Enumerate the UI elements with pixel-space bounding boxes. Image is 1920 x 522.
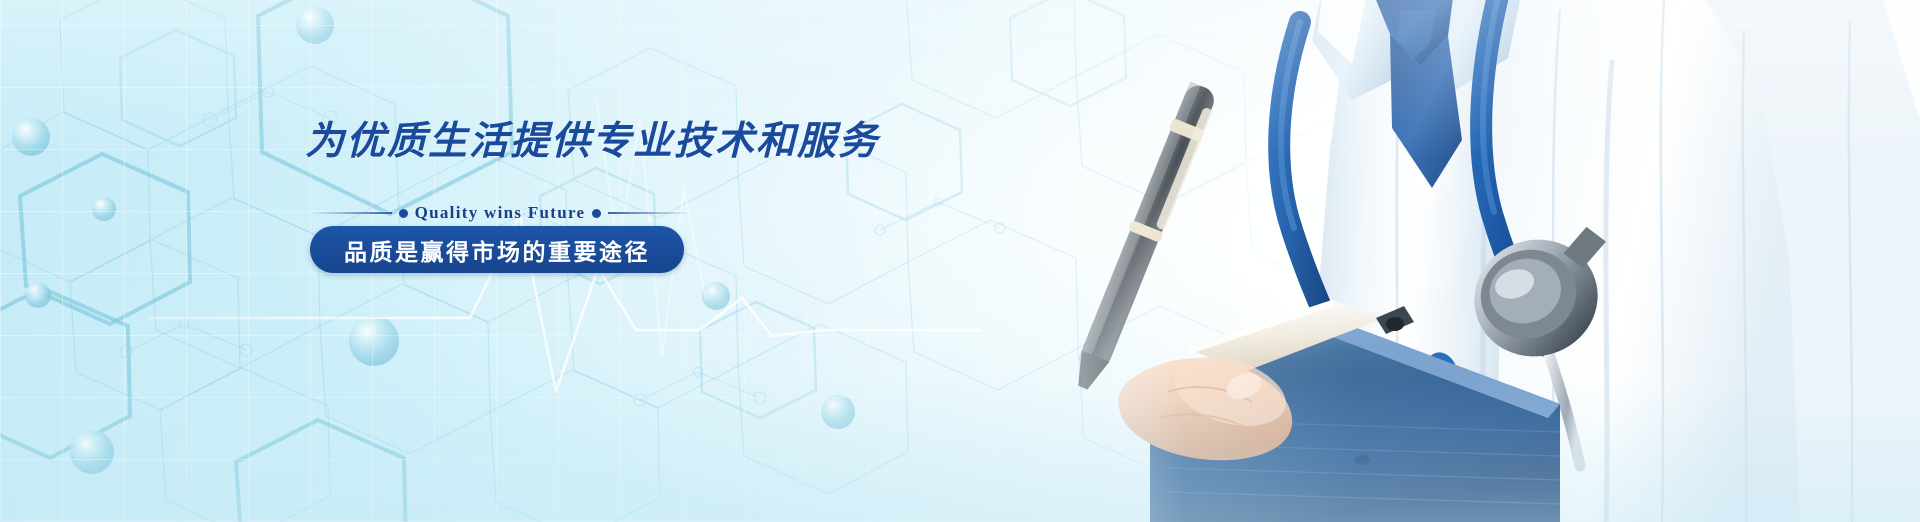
divider-line-left bbox=[310, 212, 392, 214]
medical-hero-banner: 为优质生活提供专业技术和服务 Quality wins Future 品质是赢得… bbox=[0, 0, 1920, 522]
slogan-button[interactable]: 品质是赢得市场的重要途径 bbox=[310, 226, 684, 273]
divider-dot-right bbox=[592, 209, 601, 218]
page-title: 为优质生活提供专业技术和服务 bbox=[305, 122, 879, 161]
divider-line-right bbox=[608, 212, 690, 214]
banner-content: 为优质生活提供专业技术和服务 Quality wins Future 品质是赢得… bbox=[0, 0, 1920, 522]
divider-dot-left bbox=[399, 209, 408, 218]
tagline-divider: Quality wins Future bbox=[310, 200, 690, 226]
tagline-text: Quality wins Future bbox=[415, 203, 586, 223]
